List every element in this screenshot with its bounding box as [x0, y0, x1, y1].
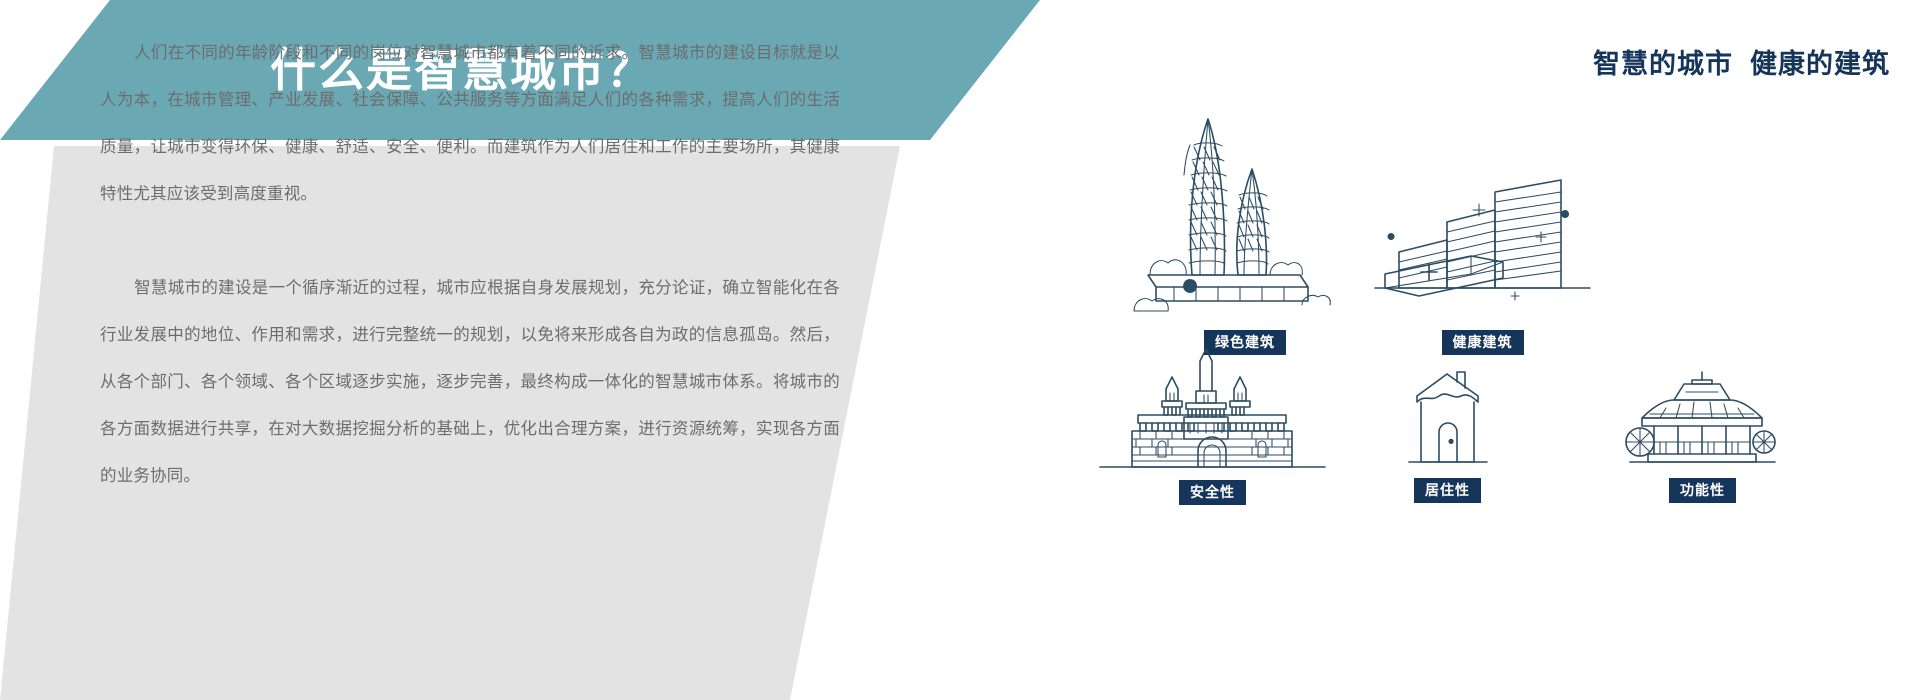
paragraph-1-text: 人们在不同的年龄阶段和不同的岗位对智慧城市都有着不同的诉求。智慧城市的建设目标就…: [100, 44, 840, 203]
paragraph-2: 智慧城市的建设是一个循序渐近的过程，城市应根据自身发展规划，充分论证，确立智能化…: [100, 265, 840, 500]
icon-cell-livability: 居住性: [1405, 370, 1490, 503]
icon-label-safety: 安全性: [1179, 480, 1246, 505]
castle-icon: [1100, 345, 1325, 470]
paragraph-2-text: 智慧城市的建设是一个循序渐近的过程，城市应根据自身发展规划，充分论证，确立智能化…: [100, 279, 840, 485]
pavilion-icon: [1630, 370, 1775, 468]
twin-towers-icon: [1130, 105, 1360, 320]
hospital-complex-icon: [1375, 170, 1590, 320]
icon-label-healthy-building: 健康建筑: [1442, 330, 1524, 355]
house-icon: [1405, 370, 1490, 468]
icon-cell-healthy-building: 健康建筑: [1375, 170, 1590, 355]
body-text-container: 人们在不同的年龄阶段和不同的岗位对智慧城市都有着不同的诉求。智慧城市的建设目标就…: [100, 30, 840, 500]
left-content-column: 什么是智慧城市？ 人们在不同的年龄阶段和不同的岗位对智慧城市都有着不同的诉求。智…: [0, 0, 1120, 700]
icon-label-functionality: 功能性: [1669, 478, 1736, 503]
right-illustration-column: 智慧的城市 健康的建筑: [1120, 0, 1920, 700]
icon-cell-green-building: 绿色建筑: [1130, 105, 1360, 355]
icon-cell-functionality: 功能性: [1630, 370, 1775, 503]
icon-label-livability: 居住性: [1414, 478, 1481, 503]
icon-cell-safety: 安全性: [1100, 345, 1325, 505]
paragraph-1: 人们在不同的年龄阶段和不同的岗位对智慧城市都有着不同的诉求。智慧城市的建设目标就…: [100, 30, 840, 218]
section-heading: 智慧的城市 健康的建筑: [1593, 42, 1890, 81]
